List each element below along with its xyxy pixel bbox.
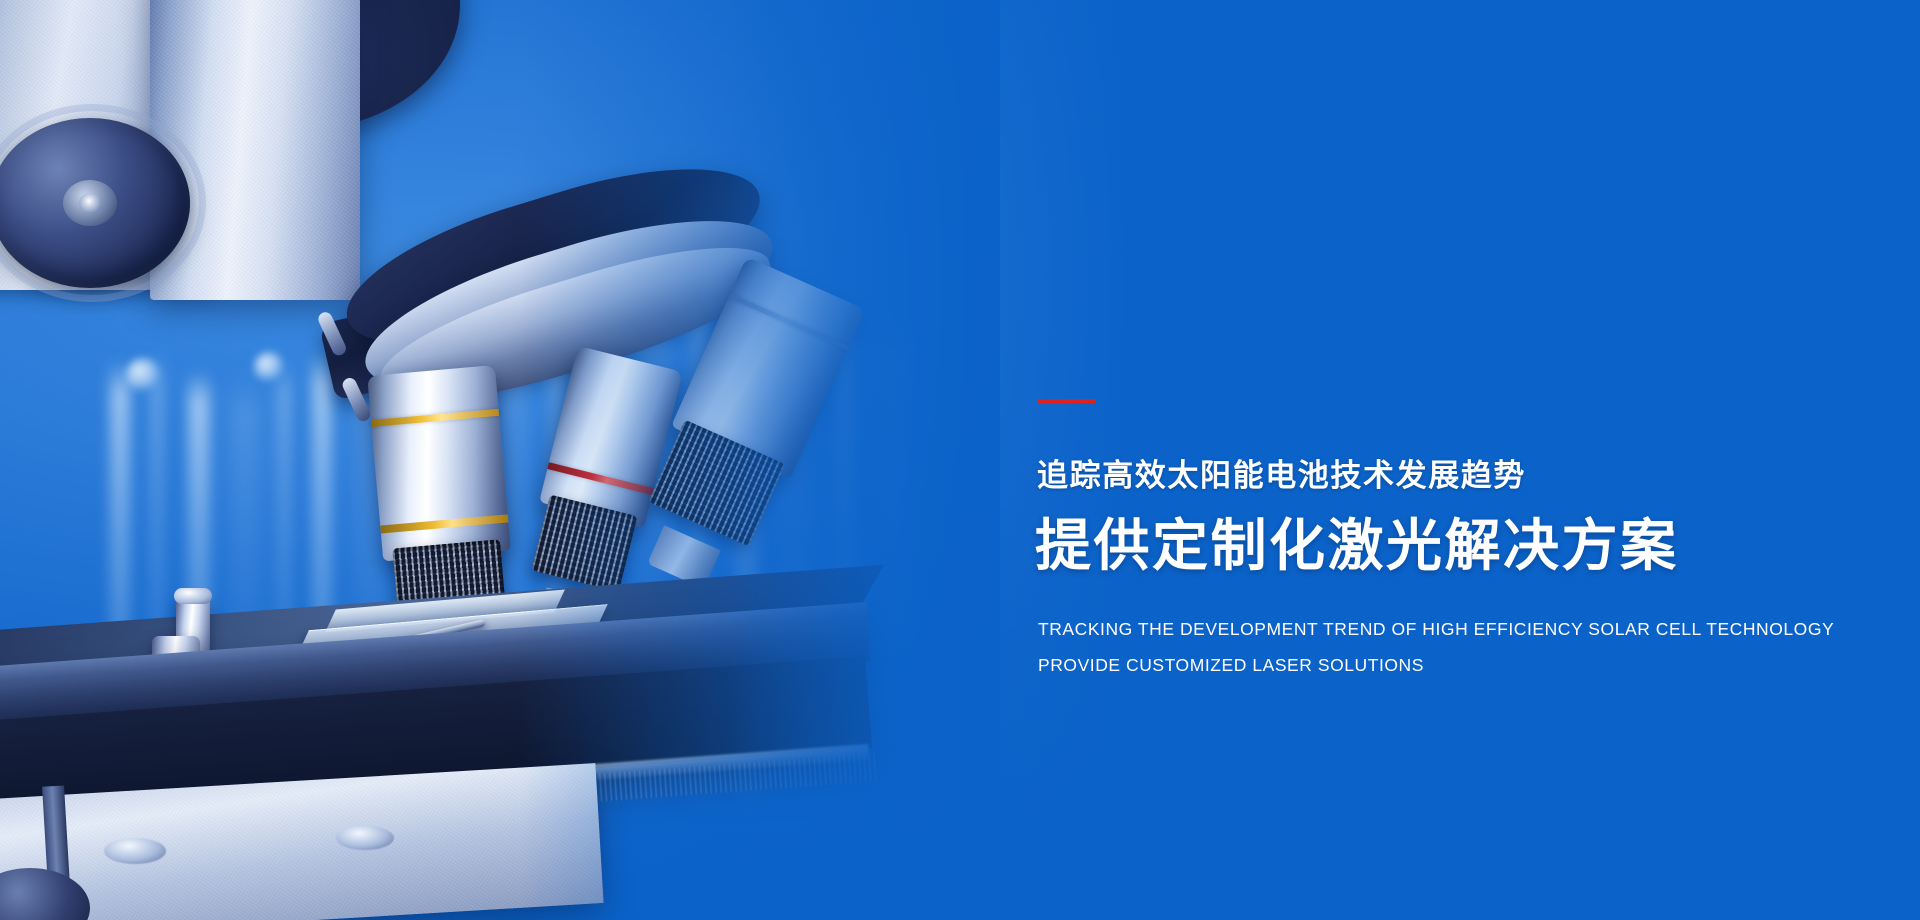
bokeh-highlight — [254, 352, 284, 382]
banner-subtitle: 追踪高效太阳能电池技术发展趋势 — [1037, 457, 1837, 494]
banner-headline: 提供定制化激光解决方案 — [1035, 513, 1855, 579]
banner-english-line-1: TRACKING THE DEVELOPMENT TREND OF HIGH E… — [1038, 619, 1878, 640]
bokeh-highlight — [126, 358, 160, 392]
stage-control-cap — [174, 588, 212, 604]
red-accent-rule — [1037, 399, 1095, 403]
base-foot — [336, 826, 394, 850]
hero-banner: 追踪高效太阳能电池技术发展趋势 提供定制化激光解决方案 TRACKING THE… — [0, 0, 1920, 920]
banner-text-block: 追踪高效太阳能电池技术发展趋势 提供定制化激光解决方案 TRACKING THE… — [1037, 0, 1897, 920]
banner-english-line-2: PROVIDE CUSTOMIZED LASER SOLUTIONS — [1038, 655, 1878, 676]
base-foot — [104, 838, 166, 864]
